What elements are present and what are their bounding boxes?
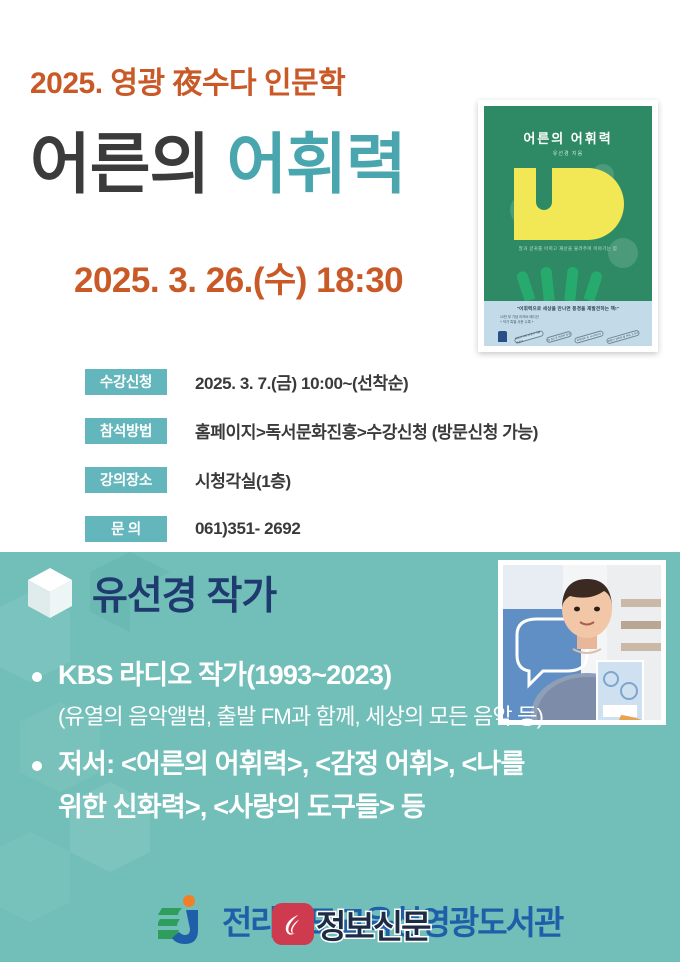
- author-credentials: KBS 라디오 작가(1993~2023) (유열의 음악앨범, 출발 FM과 …: [22, 658, 662, 824]
- book-grass-graphic: [518, 271, 618, 301]
- title-part-dark: 어른의: [30, 127, 209, 201]
- book-band-tag: 어른이 읽어야 할 어휘 교과서: [606, 329, 640, 344]
- calligraphy-mark-icon: [280, 911, 306, 937]
- book-author: 유선경 지음: [484, 150, 652, 157]
- author-section: 유선경 작가: [0, 552, 680, 962]
- book-band-quote: "어휘력으로 세상을 만나면 풍경을 재발견하는 책!": [484, 306, 652, 312]
- credential-text: 저서: <어른의 어휘력>, <감정 어휘>, <나를: [58, 747, 525, 782]
- info-label-method: 참석방법: [85, 418, 167, 444]
- info-value-registration: 2025. 3. 7.(금) 10:00~(선착순): [195, 369, 408, 394]
- bullet-dot-icon: [32, 672, 42, 682]
- info-row: 참석방법 홈페이지>독서문화진흥>수강신청 (방문신청 가능): [85, 415, 645, 446]
- publisher-seal-icon: [498, 331, 507, 342]
- info-label-registration: 수강신청: [85, 369, 167, 395]
- info-value-method: 홈페이지>독서문화진흥>수강신청 (방문신청 가능): [195, 418, 538, 443]
- watermark-text: 정보신문: [316, 900, 429, 948]
- watermark: 정보신문: [272, 900, 429, 948]
- info-row: 강의장소 시청각실(1층): [85, 464, 645, 495]
- title-part-accent: 어휘력: [227, 127, 406, 201]
- book-band-note-line2: + 작가 특별 서문 수록 +: [500, 320, 539, 325]
- book-band-tag: 어휘의 격이 인생의 격을 바꾼다: [514, 330, 544, 344]
- event-poster: 2025. 영광 夜수다 인문학 어른의 어휘력 2025. 3. 26.(수)…: [0, 0, 680, 962]
- book-band-note: 10만 부 기념 리커버 에디션 + 작가 특별 서문 수록 +: [500, 315, 539, 326]
- info-value-venue: 시청각실(1층): [195, 467, 291, 492]
- info-label-venue: 강의장소: [85, 467, 167, 493]
- credential-text-continued: 위한 신화력>, <사랑의 도구들> 등: [58, 785, 662, 824]
- list-item: 저서: <어른의 어휘력>, <감정 어휘>, <나를: [22, 747, 662, 782]
- list-item: KBS 라디오 작가(1993~2023): [22, 658, 662, 693]
- book-title: 어른의 어휘력: [484, 128, 652, 147]
- footer: 전라남도교육청영광도서관 정보신문: [0, 894, 680, 956]
- info-row: 문 의 061)351- 2692: [85, 513, 645, 544]
- page-title: 어른의 어휘력: [30, 128, 406, 202]
- info-label-contact: 문 의: [85, 516, 167, 542]
- credential-text: KBS 라디오 작가(1993~2023): [58, 658, 391, 693]
- cube-icon: [22, 564, 78, 622]
- author-name: 유선경 작가: [92, 565, 276, 621]
- book-band-tag: 한 권으로 어휘력 완성: [546, 331, 573, 344]
- book-band-tag: 어휘력이 곧 사고력이다: [574, 330, 604, 344]
- event-datetime: 2025. 3. 26.(수) 18:30: [74, 252, 403, 303]
- poster-kicker: 2025. 영광 夜수다 인문학: [30, 58, 345, 102]
- book-subtitle: 말과 글귀를 아끼고 재산을 불려주며 이야기는 힘: [484, 246, 652, 252]
- book-obi-band: "어휘력으로 세상을 만나면 풍경을 재발견하는 책!" 10만 부 기념 리커…: [484, 301, 652, 346]
- credential-subtext: (유열의 음악앨범, 출발 FM과 함께, 세상의 모든 음악 등): [58, 699, 662, 731]
- watermark-badge-icon: [272, 903, 314, 945]
- bullet-dot-icon: [32, 761, 42, 771]
- author-heading: 유선경 작가: [22, 564, 276, 622]
- book-cover-front: 어른의 어휘력 유선경 지음 말과 글귀를 아끼고 재산을 불려주며 이야기는 …: [484, 106, 652, 301]
- book-cover-graphic-notch: [536, 168, 552, 210]
- info-value-contact: 061)351- 2692: [195, 519, 300, 539]
- book-cover-image: 어른의 어휘력 유선경 지음 말과 글귀를 아끼고 재산을 불려주며 이야기는 …: [478, 100, 658, 352]
- poster-top-section: 2025. 영광 夜수다 인문학 어른의 어휘력 2025. 3. 26.(수)…: [0, 0, 680, 552]
- info-row: 수강신청 2025. 3. 7.(금) 10:00~(선착순): [85, 366, 645, 397]
- jeonnam-education-logo-icon: [158, 894, 214, 946]
- book-decor-blob: [608, 238, 638, 268]
- book-cover-graphic: [514, 168, 624, 240]
- event-info-table: 수강신청 2025. 3. 7.(금) 10:00~(선착순) 참석방법 홈페이…: [85, 366, 645, 562]
